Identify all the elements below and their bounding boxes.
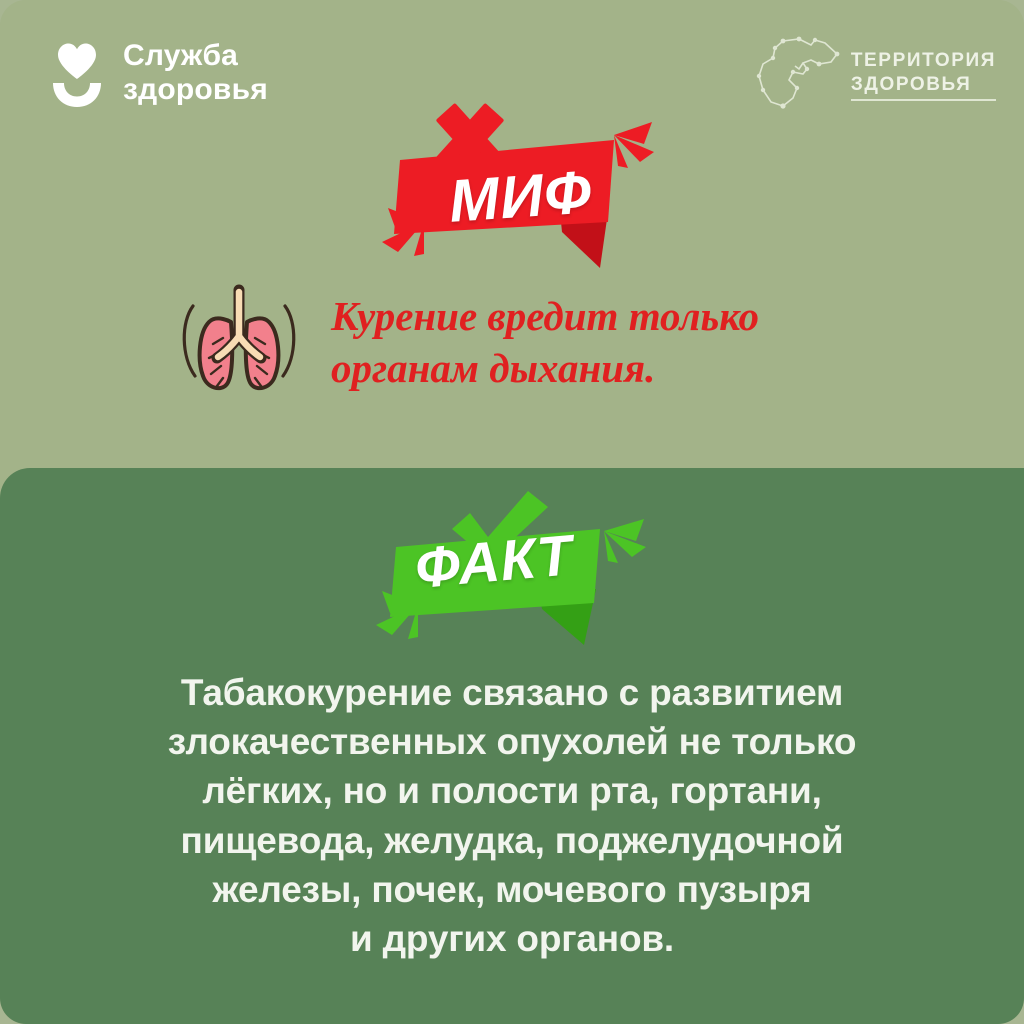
myth-badge-label: МИФ bbox=[447, 157, 594, 236]
fact-line-1: Табакокурение связано с развитием bbox=[80, 668, 944, 717]
fact-line-5: железы, почек, мочевого пузыря bbox=[80, 865, 944, 914]
brand-logo: Служба здоровья bbox=[48, 38, 268, 108]
fact-line-3: лёгких, но и полости рта, гортани, bbox=[80, 766, 944, 815]
region-map-icon bbox=[753, 36, 845, 114]
territory-text: ТЕРРИТОРИЯ ЗДОРОВЬЯ bbox=[851, 49, 996, 100]
brand-line-1: Служба bbox=[123, 39, 268, 73]
burst-right bbox=[604, 519, 646, 563]
burst-right bbox=[614, 122, 654, 168]
myth-badge: МИФ bbox=[352, 100, 672, 285]
fact-statement-text: Табакокурение связано с развитием злокач… bbox=[0, 668, 1024, 963]
heart-smile-icon bbox=[48, 38, 106, 108]
fact-line-6: и других органов. bbox=[80, 914, 944, 963]
brand-text: Служба здоровья bbox=[123, 39, 268, 106]
heart-icon bbox=[56, 42, 98, 80]
territory-logo: ТЕРРИТОРИЯ ЗДОРОВЬЯ bbox=[753, 36, 996, 114]
territory-line-1: ТЕРРИТОРИЯ bbox=[851, 50, 996, 71]
brand-line-2: здоровья bbox=[123, 73, 268, 107]
myth-statement-row: Курение вредит только органам дыхания. bbox=[0, 282, 1024, 404]
infographic-card: Служба здоровья ТЕРРИТОРИЯ ЗДОРОВЬЯ bbox=[0, 0, 1024, 1024]
fact-badge-label: ФАКТ bbox=[412, 522, 575, 602]
fact-badge: ФАКТ bbox=[352, 485, 672, 660]
territory-line-2: ЗДОРОВЬЯ bbox=[851, 73, 996, 101]
lungs-icon bbox=[173, 282, 305, 404]
myth-statement-text: Курение вредит только органам дыхания. bbox=[331, 291, 851, 394]
fact-line-4: пищевода, желудка, поджелудочной bbox=[80, 816, 944, 865]
fact-line-2: злокачественных опухолей не только bbox=[80, 717, 944, 766]
smile-icon bbox=[52, 82, 102, 108]
